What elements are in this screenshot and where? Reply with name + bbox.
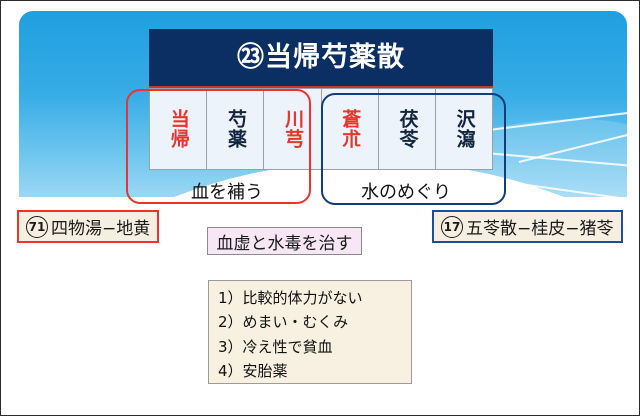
page-title: ㉓当帰芍薬散 [237,44,405,71]
badge-label: 四物湯−地黄 [51,214,150,239]
group-label-water: 水のめぐり [361,178,451,204]
list-item: 1）比較的体力がない [218,286,411,310]
related-formula-badge-left[interactable]: 71 四物湯−地黄 [17,210,159,243]
group-label-blood: 血を補う [191,178,263,204]
formula-title-bar: ㉓当帰芍薬散 [149,29,493,86]
slide-canvas: ㉓当帰芍薬散 当帰 芍薬 川芎 蒼朮 茯苓 沢瀉 血を補う 水のめぐり 71 四… [0,0,640,416]
badge-number-circle: 17 [441,216,463,238]
badge-label: 五苓散−桂皮−猪苓 [466,214,614,239]
indications-box: 1）比較的体力がない 2）めまい・むくみ 3）冷え性で貧血 4）安胎薬 [208,280,412,384]
statement-text: 血虚と水毒を治す [217,229,353,254]
badge-number-circle: 71 [26,216,48,238]
statement-box: 血虚と水毒を治す [207,227,362,255]
list-item: 2）めまい・むくみ [218,310,411,334]
list-item: 4）安胎薬 [218,359,411,383]
list-item: 3）冷え性で貧血 [218,335,411,359]
related-formula-badge-right[interactable]: 17 五苓散−桂皮−猪苓 [432,210,623,243]
